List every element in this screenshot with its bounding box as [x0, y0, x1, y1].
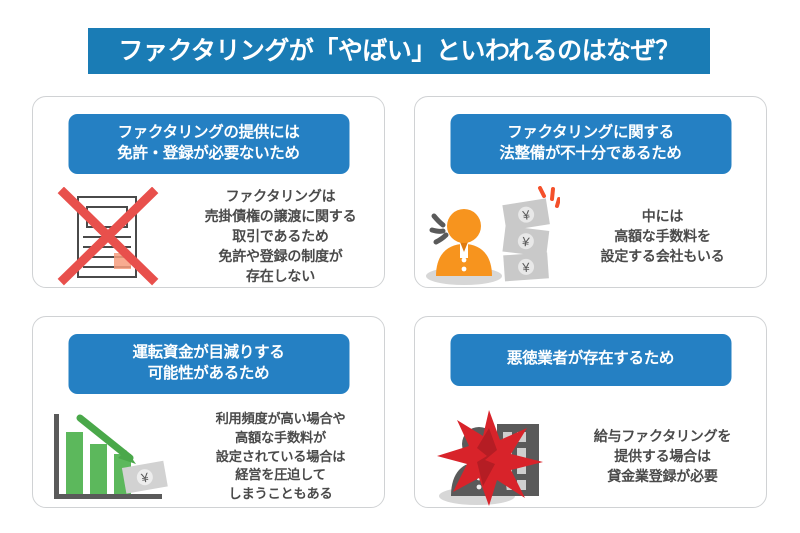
card-2-heading-line-2: 法整備が不十分であるため: [450, 144, 731, 165]
crossed-out-license-document-icon: [33, 185, 183, 289]
card-4-body: 給与ファクタリングを 提供する場合は 貸金業登録が必要: [415, 405, 768, 509]
reason-card-4: 悪徳業者が存在するため: [414, 316, 767, 508]
card-2-heading-line-1: ファクタリングに関する: [450, 123, 731, 144]
card-3-text-line-2: 高額な手数料が: [183, 429, 378, 448]
card-4-heading: 悪徳業者が存在するため: [450, 334, 731, 386]
declining-bar-chart-with-yen-bill-icon: ¥: [33, 405, 183, 509]
card-1-text-line-4: 免許や登録の制度が: [183, 247, 378, 267]
reason-card-1: ファクタリングの提供には 免許・登録が必要ないため ファクタリングは: [32, 96, 385, 288]
card-3-text-line-1: 利用頻度が高い場合や: [183, 410, 378, 429]
card-4-text-line-3: 貸金業登録が必要: [565, 467, 760, 487]
card-3-text-line-4: 経営を圧迫して: [183, 466, 378, 485]
card-3-heading-line-2: 可能性があるため: [68, 364, 349, 385]
card-1-heading: ファクタリングの提供には 免許・登録が必要ないため: [68, 114, 349, 174]
page-title: ファクタリングが「やばい」といわれるのはなぜ？: [118, 39, 679, 64]
card-1-text-line-1: ファクタリングは: [183, 187, 378, 207]
malicious-operator-building-burst-icon: [415, 405, 565, 509]
card-1-body: ファクタリングは 売掛債権の譲渡に関する 取引であるため 免許や登録の制度が 存…: [33, 185, 386, 289]
card-1-text-line-5: 存在しない: [183, 267, 378, 287]
card-1-heading-line-2: 免許・登録が必要ないため: [68, 144, 349, 165]
card-4-heading-line-1: 悪徳業者が存在するため: [450, 349, 731, 370]
card-2-text: 中には 高額な手数料を 設定する会社もいる: [565, 207, 768, 267]
page-title-bar: ファクタリングが「やばい」といわれるのはなぜ？: [88, 28, 710, 74]
card-1-text-line-3: 取引であるため: [183, 227, 378, 247]
card-3-text-line-3: 設定されている場合は: [183, 448, 378, 467]
card-4-text-line-1: 給与ファクタリングを: [565, 427, 760, 447]
card-2-text-line-3: 設定する会社もいる: [565, 247, 760, 267]
reason-card-2: ファクタリングに関する 法整備が不十分であるため: [414, 96, 767, 288]
reason-card-3: 運転資金が目減りする 可能性があるため ¥: [32, 316, 385, 508]
card-4-text-line-2: 提供する場合は: [565, 447, 760, 467]
card-1-heading-line-1: ファクタリングの提供には: [68, 123, 349, 144]
card-3-heading: 運転資金が目減りする 可能性があるため: [68, 334, 349, 394]
card-3-text: 利用頻度が高い場合や 高額な手数料が 設定されている場合は 経営を圧迫して しま…: [183, 410, 386, 504]
card-3-body: ¥ 利用頻度が高い場合や 高額な手数料が 設定されている場合は 経営を圧迫して …: [33, 405, 386, 509]
card-4-text: 給与ファクタリングを 提供する場合は 貸金業登録が必要: [565, 427, 768, 487]
card-2-heading: ファクタリングに関する 法整備が不十分であるため: [450, 114, 731, 174]
infographic-root: ファクタリングが「やばい」といわれるのはなぜ？ ファクタリングの提供には 免許・…: [0, 0, 800, 533]
card-1-text-line-2: 売掛債権の譲渡に関する: [183, 207, 378, 227]
surprised-businessman-with-yen-bills-icon: ¥ ¥ ¥: [415, 185, 565, 289]
card-3-text-line-5: しまうこともある: [183, 485, 378, 504]
card-2-text-line-1: 中には: [565, 207, 760, 227]
card-2-body: ¥ ¥ ¥: [415, 185, 768, 289]
card-2-text-line-2: 高額な手数料を: [565, 227, 760, 247]
card-3-heading-line-1: 運転資金が目減りする: [68, 343, 349, 364]
card-1-text: ファクタリングは 売掛債権の譲渡に関する 取引であるため 免許や登録の制度が 存…: [183, 187, 386, 286]
